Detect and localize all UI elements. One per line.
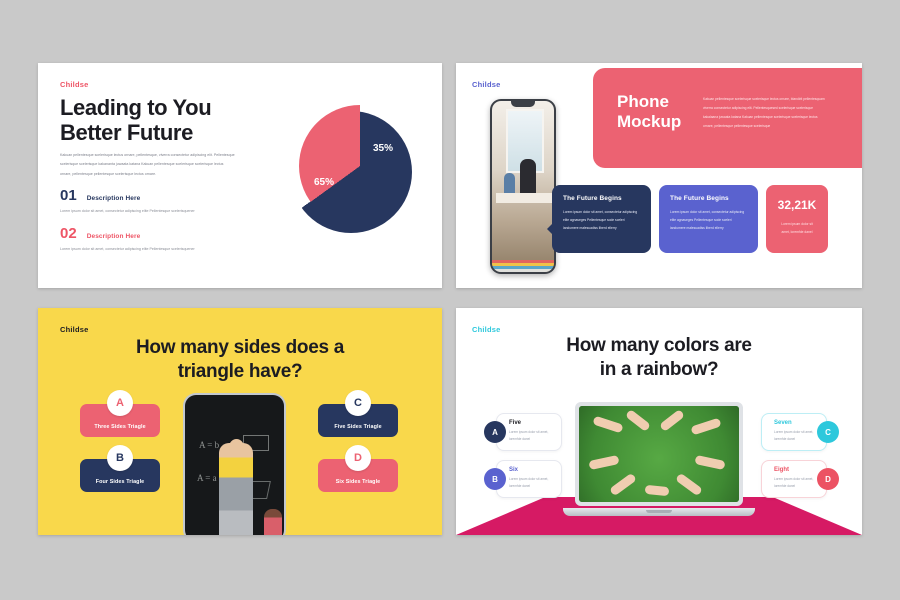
answer-body: Lorem ipsum dolor sit amet, loremfde dan…	[509, 476, 554, 491]
photo-rug	[492, 260, 554, 272]
answer-option-b[interactable]: B Six Lorem ipsum dolor sit amet, loremf…	[496, 460, 562, 498]
photo-teacher-head	[229, 439, 244, 455]
title-line-1: How many colors are	[456, 334, 862, 358]
intro-paragraph: Kakuan pellentesque scelerisque lectus o…	[60, 151, 235, 179]
answer-letter-badge: D	[817, 468, 839, 490]
phone-screen-photo: A = b A = a	[185, 395, 284, 535]
answer-option-c[interactable]: C Seven Lorem ipsum dolor sit amet, lore…	[761, 413, 827, 451]
phone-mockup: A = b A = a	[183, 393, 286, 535]
slide-phone-mockup[interactable]: Childse Phone Mockup Kakuan pellentesque…	[456, 63, 862, 288]
answer-letter-badge: C	[817, 421, 839, 443]
info-card[interactable]: The Future Begins Lorem ipsum dolor sit …	[659, 185, 758, 253]
answer-label: Three Sides Triagle	[94, 424, 145, 430]
title-line-2: Better Future	[60, 120, 250, 145]
brand-logo: Childse	[60, 325, 89, 334]
answer-title: Six	[509, 467, 554, 473]
answer-title: Five	[509, 420, 554, 426]
answer-label: Five Sides Triagle	[334, 424, 381, 430]
list-item: 02 Description Here Lorem ipsum dolor si…	[60, 226, 250, 253]
answer-title: Seven	[774, 420, 819, 426]
brand-logo: Childse	[472, 325, 501, 334]
pie-chart: 65% 35%	[290, 105, 430, 245]
answer-option-a[interactable]: A Five Lorem ipsum dolor sit amet, lorem…	[496, 413, 562, 451]
slide-thumbnail-board: Childse Leading to You Better Future Kak…	[0, 0, 900, 600]
title-line-2: Mockup	[617, 112, 681, 132]
card-body: Lorem ipsum dolor sit amet, consectetur …	[563, 208, 640, 233]
title-line-1: Phone	[617, 92, 681, 112]
title-line-1: How many sides does a	[38, 336, 442, 360]
answer-letter-badge: C	[345, 390, 371, 416]
slide-quiz-triangle[interactable]: Childse How many sides does a triangle h…	[38, 308, 442, 535]
page-title: How many colors are in a rainbow?	[456, 334, 862, 382]
photo-child	[504, 173, 515, 195]
pie-label-65: 65%	[314, 177, 334, 188]
brand-logo: Childse	[472, 80, 501, 89]
photo-table	[496, 193, 554, 203]
page-title: Phone Mockup	[617, 92, 681, 131]
laptop-lid	[575, 402, 743, 506]
stat-value: 32,21K	[777, 198, 817, 212]
pie-slice-35	[299, 105, 421, 227]
item-number: 02	[60, 226, 77, 241]
answer-body: Lorem ipsum dolor sit amet, loremfde dan…	[774, 429, 819, 444]
item-body: Lorem ipsum dolor sit amet, consectetur …	[60, 247, 250, 253]
item-number: 01	[60, 188, 77, 203]
title-line-1: Leading to You	[60, 95, 250, 120]
brand-logo: Childse	[60, 80, 89, 89]
page-title: Leading to You Better Future	[60, 95, 250, 146]
card-title: The Future Begins	[563, 195, 640, 202]
answer-letter-badge: A	[107, 390, 133, 416]
answer-option-c[interactable]: C Five Sides Triagle	[318, 404, 398, 437]
photo-student	[264, 509, 282, 535]
answer-letter-badge: B	[484, 468, 506, 490]
answer-option-a[interactable]: A Three Sides Triagle	[80, 404, 160, 437]
phone-mockup	[490, 99, 556, 274]
chalk-equation-2: A = a	[197, 473, 217, 483]
card-pointer	[547, 223, 553, 235]
stat-body: Lorem ipsum dolor sit amet, loremfde dan…	[777, 220, 817, 236]
item-heading: Description Here	[87, 195, 141, 202]
photo-adult	[520, 159, 536, 195]
page-title: How many sides does a triangle have?	[38, 336, 442, 384]
answer-letter-badge: A	[484, 421, 506, 443]
photo-teacher	[219, 443, 253, 535]
answer-option-d[interactable]: D Eight Lorem ipsum dolor sit amet, lore…	[761, 460, 827, 498]
stat-card[interactable]: 32,21K Lorem ipsum dolor sit amet, lorem…	[766, 185, 828, 253]
slide-quiz-rainbow[interactable]: Childse How many colors are in a rainbow…	[456, 308, 862, 535]
hero-paragraph: Kakuan pellentesque scelerisque sceleris…	[703, 95, 825, 131]
phone-screen-photo	[492, 101, 554, 272]
slide-pie-chart[interactable]: Childse Leading to You Better Future Kak…	[38, 63, 442, 288]
pie-label-35: 35%	[373, 143, 393, 154]
card-body: Lorem ipsum dolor sit amet, consectetur …	[670, 208, 747, 233]
answer-option-d[interactable]: D Six Sides Triagle	[318, 459, 398, 492]
phone-notch	[511, 101, 535, 107]
hero-band: Phone Mockup Kakuan pellentesque sceleri…	[593, 68, 862, 168]
answer-option-b[interactable]: B Four Sides Triagle	[80, 459, 160, 492]
laptop-trackpad-notch	[646, 510, 672, 513]
laptop-mockup	[575, 402, 743, 516]
info-card[interactable]: The Future Begins Lorem ipsum dolor sit …	[552, 185, 651, 253]
answer-label: Four Sides Triagle	[96, 479, 145, 485]
item-body: Lorem ipsum dolor sit amet, consectetur …	[60, 209, 250, 215]
list-item: 01 Description Here Lorem ipsum dolor si…	[60, 188, 250, 215]
item-heading: Description Here	[87, 233, 141, 240]
laptop-screen-photo	[579, 406, 739, 502]
answer-body: Lorem ipsum dolor sit amet, loremfde dan…	[774, 476, 819, 491]
title-line-2: in a rainbow?	[456, 358, 862, 382]
answer-letter-badge: B	[107, 445, 133, 471]
card-title: The Future Begins	[670, 195, 747, 202]
title-line-2: triangle have?	[38, 360, 442, 384]
chalk-equation-1: A = b	[199, 440, 219, 450]
answer-body: Lorem ipsum dolor sit amet, loremfde dan…	[509, 429, 554, 444]
answer-title: Eight	[774, 467, 819, 473]
answer-letter-badge: D	[345, 445, 371, 471]
laptop-base	[563, 508, 755, 516]
answer-label: Six Sides Triagle	[336, 479, 381, 485]
